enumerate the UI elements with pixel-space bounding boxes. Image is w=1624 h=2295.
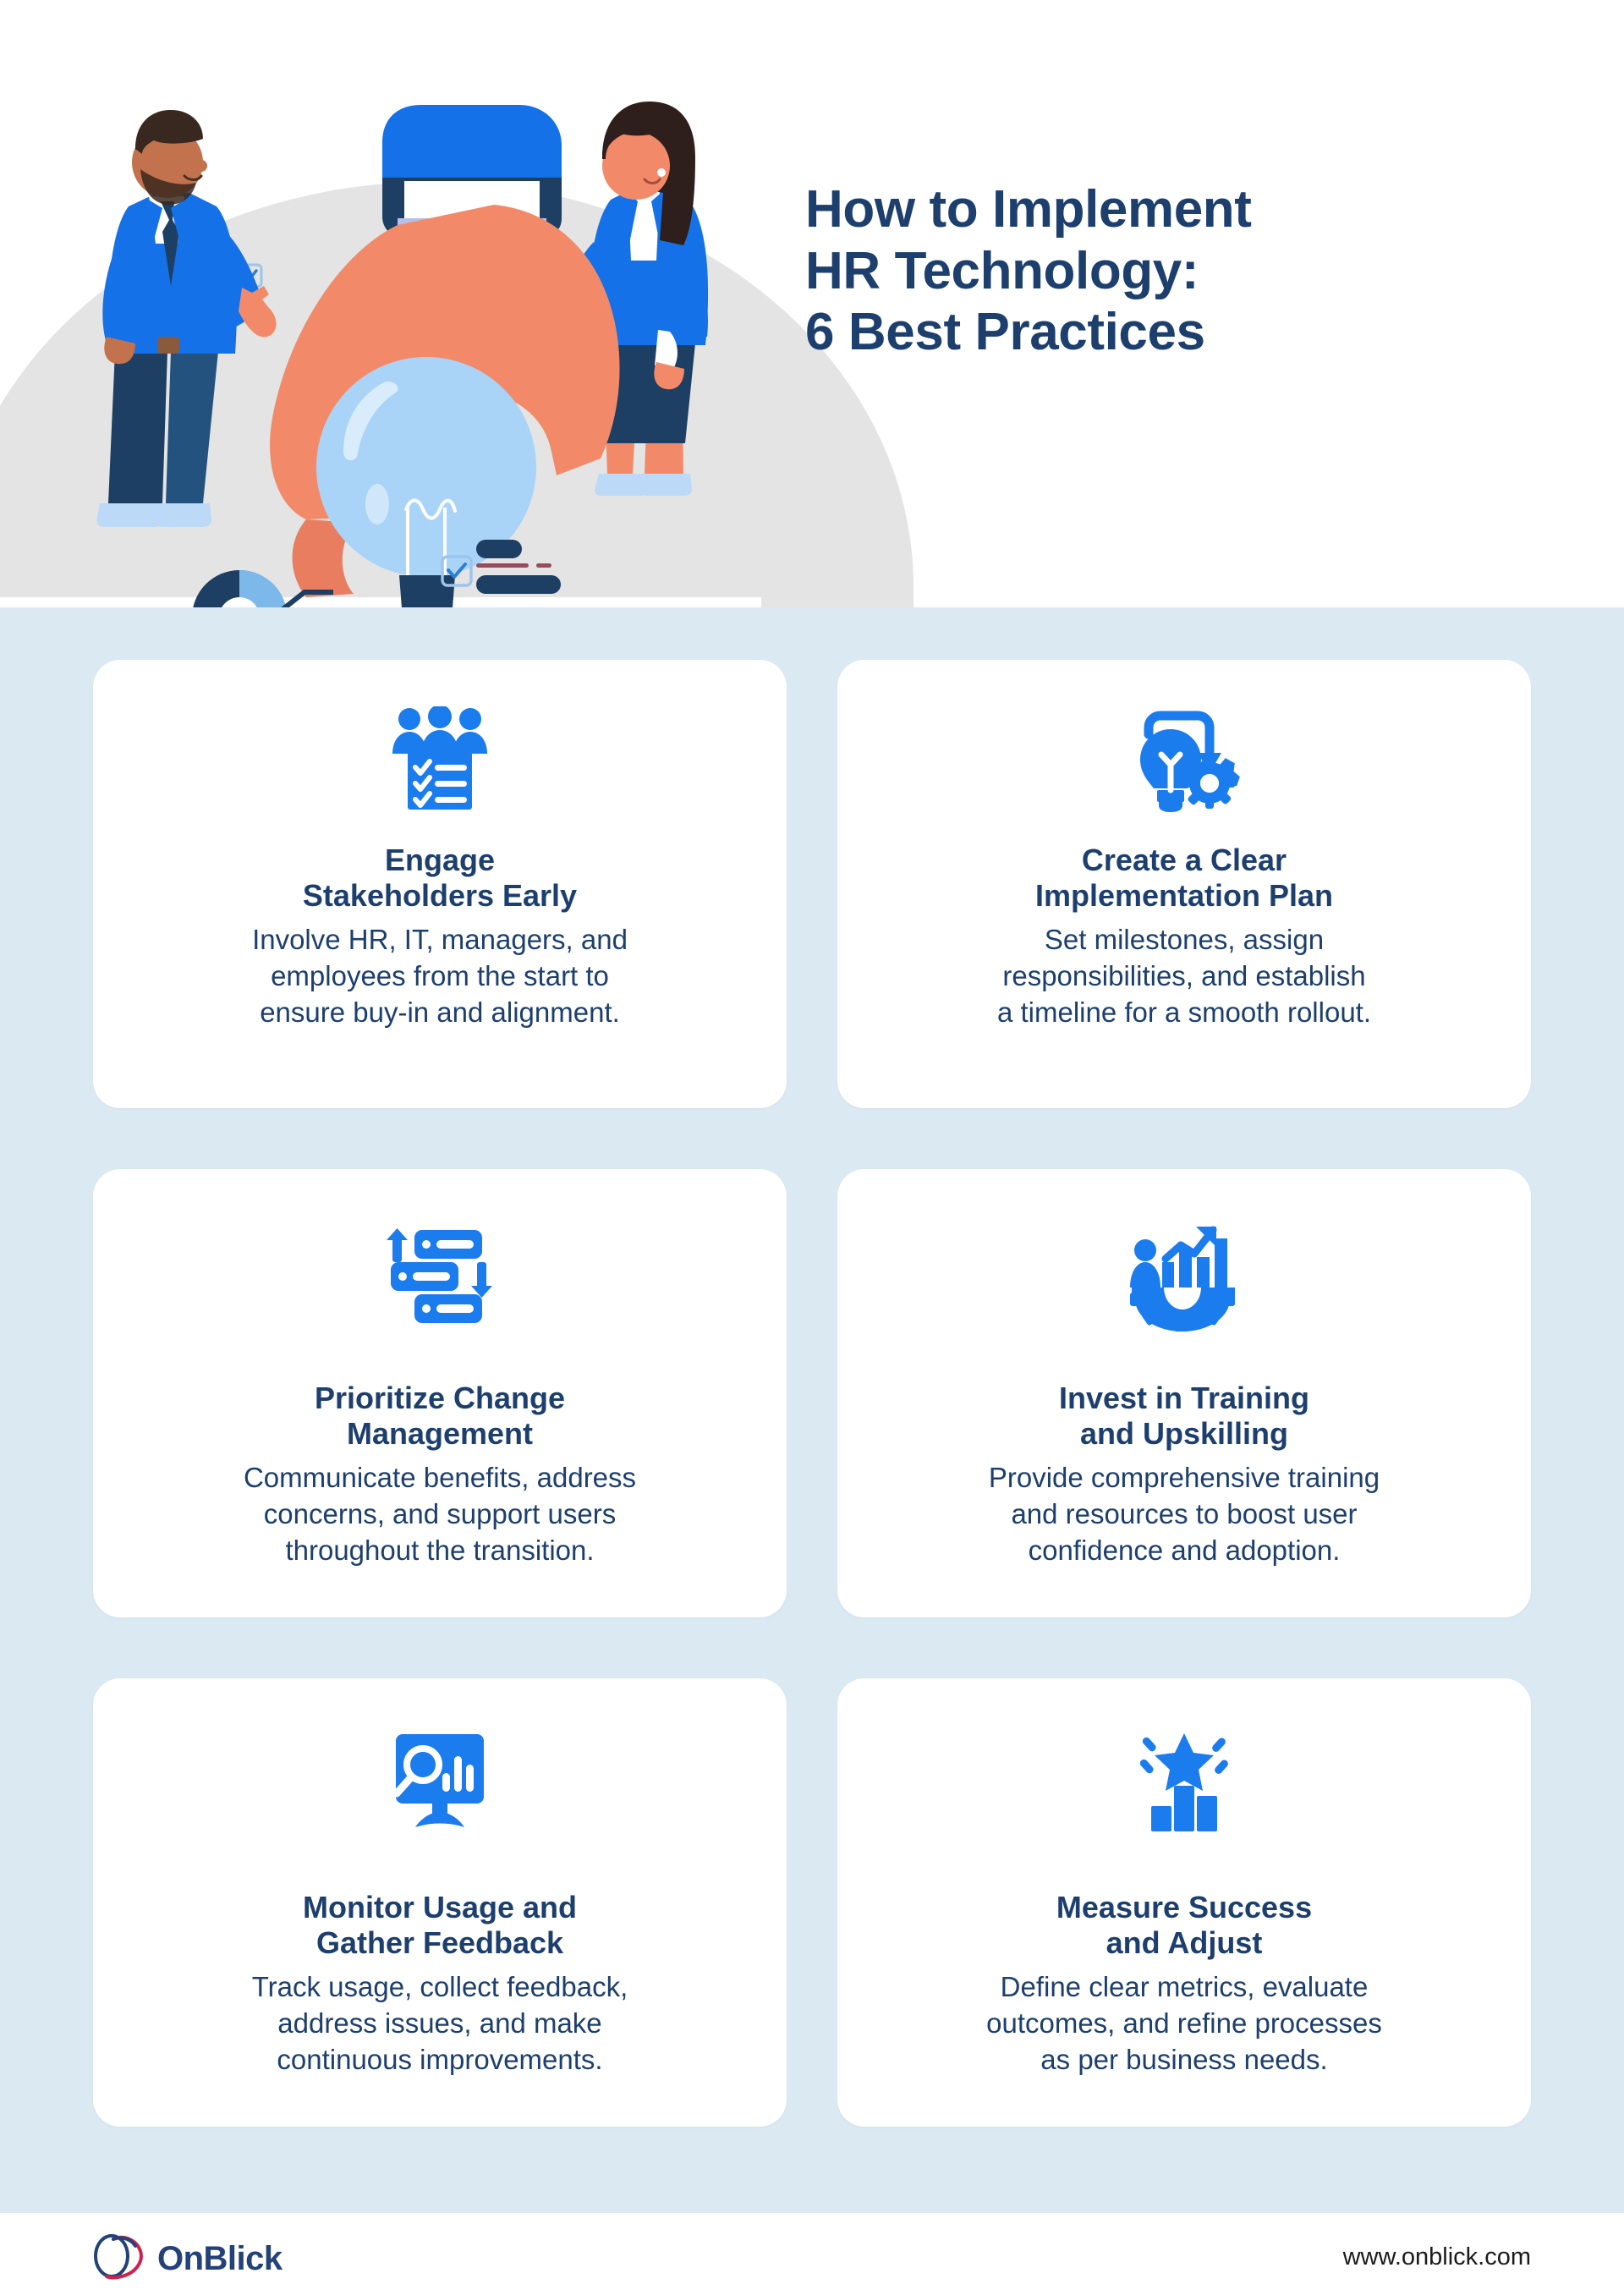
practice-card-description: Involve HR, IT, managers, and employees …	[252, 922, 628, 1031]
practices-grid: Engage Stakeholders Early Involve HR, IT…	[93, 660, 1531, 2127]
monitor-analytics-search-icon	[387, 1727, 493, 1837]
practice-card-engage-stakeholders[interactable]: Engage Stakeholders Early Involve HR, IT…	[93, 660, 787, 1108]
practice-card-description: Track usage, collect feedback, address i…	[252, 1969, 628, 2078]
brand-name: OnBlick	[157, 2240, 283, 2278]
practice-card-title: Measure Success and Adjust	[1056, 1890, 1312, 1961]
stakeholders-checklist-icon	[384, 704, 496, 814]
onblick-logo-icon	[93, 2233, 145, 2285]
practice-card-title: Prioritize Change Management	[315, 1381, 565, 1452]
practice-card-title: Monitor Usage and Gather Feedback	[303, 1890, 577, 1961]
practice-card-title: Engage Stakeholders Early	[303, 843, 577, 914]
practice-card-training-upskilling[interactable]: Invest in Training and Upskilling Provid…	[837, 1169, 1531, 1617]
website-url: www.onblick.com	[1343, 2243, 1531, 2271]
brand-logo[interactable]: OnBlick	[93, 2233, 283, 2285]
reorder-priority-icon	[386, 1222, 494, 1331]
practice-card-monitor-usage[interactable]: Monitor Usage and Gather Feedback Track …	[93, 1678, 787, 2127]
practice-card-description: Set milestones, assign responsibilities,…	[997, 922, 1371, 1031]
star-bar-chart-icon	[1138, 1727, 1231, 1837]
practice-card-description: Define clear metrics, evaluate outcomes,…	[986, 1969, 1382, 2078]
hero-section: How to Implement HR Technology: 6 Best P…	[0, 0, 1624, 607]
practice-card-title: Invest in Training and Upskilling	[1059, 1381, 1309, 1452]
practice-card-measure-success[interactable]: Measure Success and Adjust Define clear …	[837, 1678, 1531, 2127]
practice-card-title: Create a Clear Implementation Plan	[1035, 843, 1333, 914]
practice-card-description: Communicate benefits, address concerns, …	[244, 1460, 636, 1569]
footer: OnBlick www.onblick.com	[0, 2213, 1624, 2295]
page-title: How to Implement HR Technology: 6 Best P…	[805, 179, 1499, 364]
practice-card-change-management[interactable]: Prioritize Change Management Communicate…	[93, 1169, 787, 1617]
illustration-hand-lightbulb	[270, 105, 619, 607]
illustration-man	[96, 110, 276, 527]
training-growth-gear-icon	[1130, 1222, 1238, 1331]
teamwork-lightbulb-illustration	[0, 0, 761, 607]
practices-section: Engage Stakeholders Early Involve HR, IT…	[0, 607, 1624, 2213]
practice-card-implementation-plan[interactable]: Create a Clear Implementation Plan Set m…	[837, 660, 1531, 1108]
practice-card-description: Provide comprehensive training and resou…	[989, 1460, 1380, 1569]
lightbulb-gear-plan-icon	[1127, 704, 1242, 814]
